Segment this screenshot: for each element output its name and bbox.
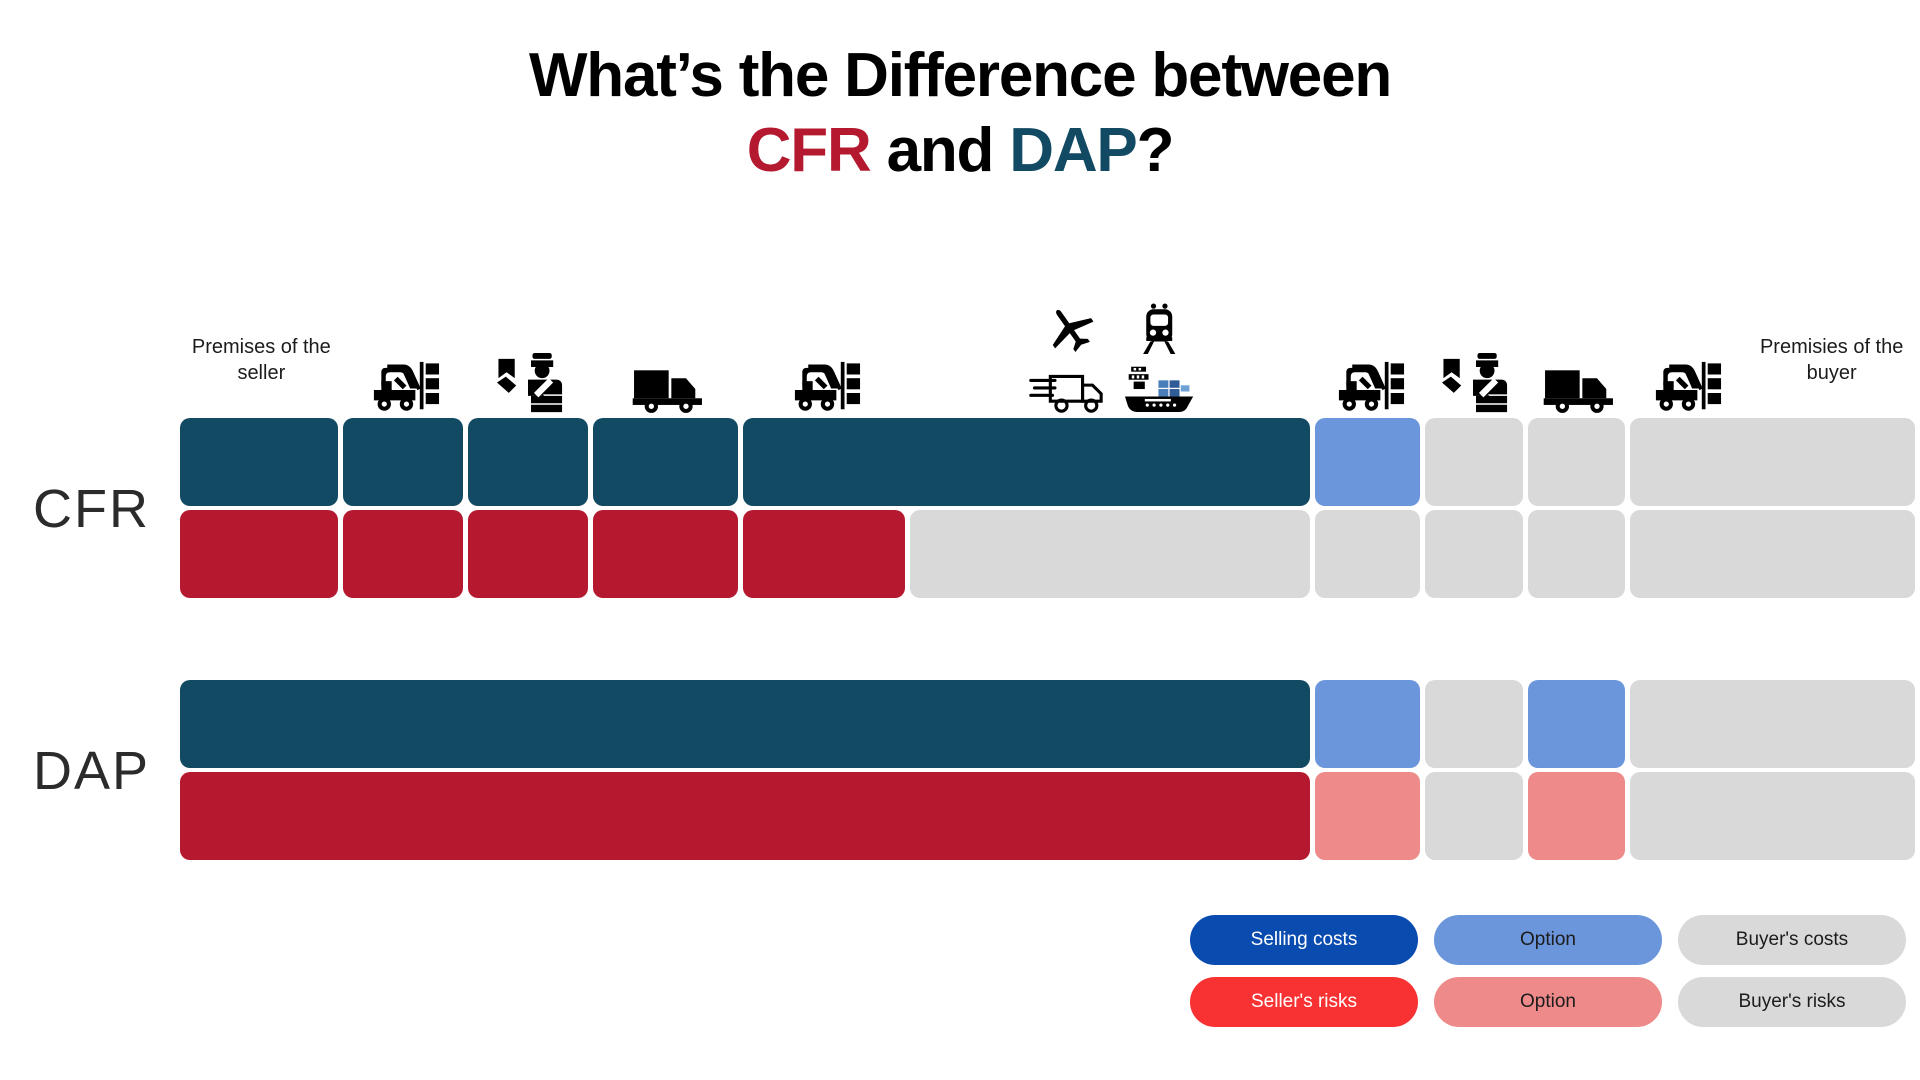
matrix-cell-dap-risk-buyer-risks [1425, 772, 1523, 860]
customs-officer-icon-wrap [494, 350, 568, 414]
header-col-dest-forklift [1315, 238, 1425, 418]
infographic-page: What’s the Difference between CFR and DA… [0, 0, 1920, 1080]
matrix-row-dap: DAP [180, 680, 1920, 860]
matrix-cell-cfr-cost-selling-costs [180, 418, 338, 506]
matrix-cell-cfr-risk-buyer-risks [1528, 510, 1626, 598]
premises-of-seller-label: Premises of the seller [186, 334, 336, 414]
forklift-icon-wrap [368, 356, 442, 414]
customs-officer-icon-wrap [1439, 350, 1513, 414]
forklift-icon-wrap [1333, 356, 1407, 414]
header-col-dest-unload [1630, 238, 1743, 418]
matrix-cell-cfr-risk-buyer-risks [1630, 510, 1915, 598]
matrix-cell-dap-risk-option-risks [1528, 772, 1626, 860]
header-col-import-customs [1425, 238, 1528, 418]
header-col-main-carriage [910, 238, 1315, 418]
matrix-cell-cfr-cost-selling-costs [343, 418, 463, 506]
row-label-cfr: CFR [0, 478, 150, 540]
header-col-origin-forklift [343, 238, 468, 418]
matrix-cell-cfr-cost-option-costs [1315, 418, 1420, 506]
forklift-icon [1650, 356, 1724, 414]
legend-chip-selling-costs[interactable]: Selling costs [1190, 915, 1418, 965]
header-col-buyer-premises: Premisies of the buyer [1743, 238, 1920, 418]
incoterms-matrix: CFRDAP [180, 418, 1920, 898]
legend: Selling costs Option Buyer's costs Selle… [1190, 915, 1920, 1039]
header-col-export-customs [468, 238, 593, 418]
matrix-cell-cfr-risk-seller-risks [343, 510, 463, 598]
header-col-inland-truck [593, 238, 743, 418]
matrix-cell-cfr-cost-buyer-costs [1425, 418, 1523, 506]
matrix-cell-dap-risk-buyer-risks [1630, 772, 1915, 860]
train-icon [1140, 303, 1178, 355]
forklift-icon [1333, 356, 1407, 414]
matrix-row-cfr: CFR [180, 418, 1920, 598]
page-title: What’s the Difference between CFR and DA… [0, 44, 1920, 182]
matrix-cell-dap-cost-selling-costs [180, 680, 1310, 768]
matrix-cell-cfr-cost-selling-costs [468, 418, 588, 506]
truck-icon-wrap [1542, 361, 1616, 414]
legend-chip-option-costs[interactable]: Option [1434, 915, 1662, 965]
matrix-cell-dap-cost-buyer-costs [1630, 680, 1915, 768]
legend-chip-buyer-risks[interactable]: Buyer's risks [1678, 977, 1906, 1027]
header-col-dest-truck [1528, 238, 1631, 418]
truck-icon [1542, 361, 1616, 414]
matrix-cell-dap-risk-option-risks [1315, 772, 1420, 860]
matrix-cell-cfr-risk-buyer-risks [910, 510, 1310, 598]
matrix-cell-cfr-risk-seller-risks [180, 510, 338, 598]
title-term-dap: DAP [1009, 116, 1136, 185]
forklift-icon [789, 356, 863, 414]
legend-row-risks: Seller's risks Option Buyer's risks [1190, 977, 1920, 1027]
header-icon-strip: Premises of the seller [180, 238, 1920, 418]
premises-of-buyer-label: Premisies of the buyer [1757, 334, 1907, 414]
matrix-cell-cfr-cost-selling-costs [743, 418, 1310, 506]
matrix-cell-cfr-risk-seller-risks [743, 510, 905, 598]
legend-chip-seller-risks[interactable]: Seller's risks [1190, 977, 1418, 1027]
matrix-cell-dap-cost-buyer-costs [1425, 680, 1523, 768]
cargo-ship-icon [1120, 363, 1198, 414]
truck-icon-wrap [631, 361, 705, 414]
title-question-mark: ? [1137, 116, 1174, 185]
main-carriage-road-sea-icons [1028, 363, 1197, 414]
customs-officer-icon [494, 350, 568, 414]
delivery-truck-icon [1028, 369, 1106, 414]
legend-chip-buyer-costs[interactable]: Buyer's costs [1678, 915, 1906, 965]
truck-icon [631, 361, 705, 414]
forklift-icon-wrap [1650, 356, 1724, 414]
airplane-icon [1046, 303, 1098, 355]
matrix-cell-dap-cost-option-costs [1315, 680, 1420, 768]
main-carriage-air-rail-icons [1046, 303, 1178, 355]
matrix-cell-cfr-risk-seller-risks [593, 510, 738, 598]
title-term-cfr: CFR [747, 116, 871, 185]
matrix-cell-cfr-risk-buyer-risks [1425, 510, 1523, 598]
legend-chip-option-risks[interactable]: Option [1434, 977, 1662, 1027]
legend-row-costs: Selling costs Option Buyer's costs [1190, 915, 1920, 965]
matrix-cell-cfr-cost-selling-costs [593, 418, 738, 506]
forklift-icon-wrap [789, 356, 863, 414]
matrix-cell-cfr-risk-buyer-risks [1315, 510, 1420, 598]
title-line-1: What’s the Difference between [0, 44, 1920, 107]
header-col-origin-premises: Premises of the seller [180, 238, 343, 418]
title-conjunction: and [871, 116, 1010, 185]
header-col-terminal-forklift [743, 238, 910, 418]
matrix-cell-cfr-cost-buyer-costs [1630, 418, 1915, 506]
customs-officer-icon [1439, 350, 1513, 414]
forklift-icon [368, 356, 442, 414]
matrix-cell-cfr-risk-seller-risks [468, 510, 588, 598]
matrix-cell-cfr-cost-buyer-costs [1528, 418, 1626, 506]
matrix-cell-dap-risk-seller-risks [180, 772, 1310, 860]
row-label-dap: DAP [0, 740, 150, 802]
title-line-2: CFR and DAP? [0, 119, 1920, 182]
matrix-cell-dap-cost-option-costs [1528, 680, 1626, 768]
